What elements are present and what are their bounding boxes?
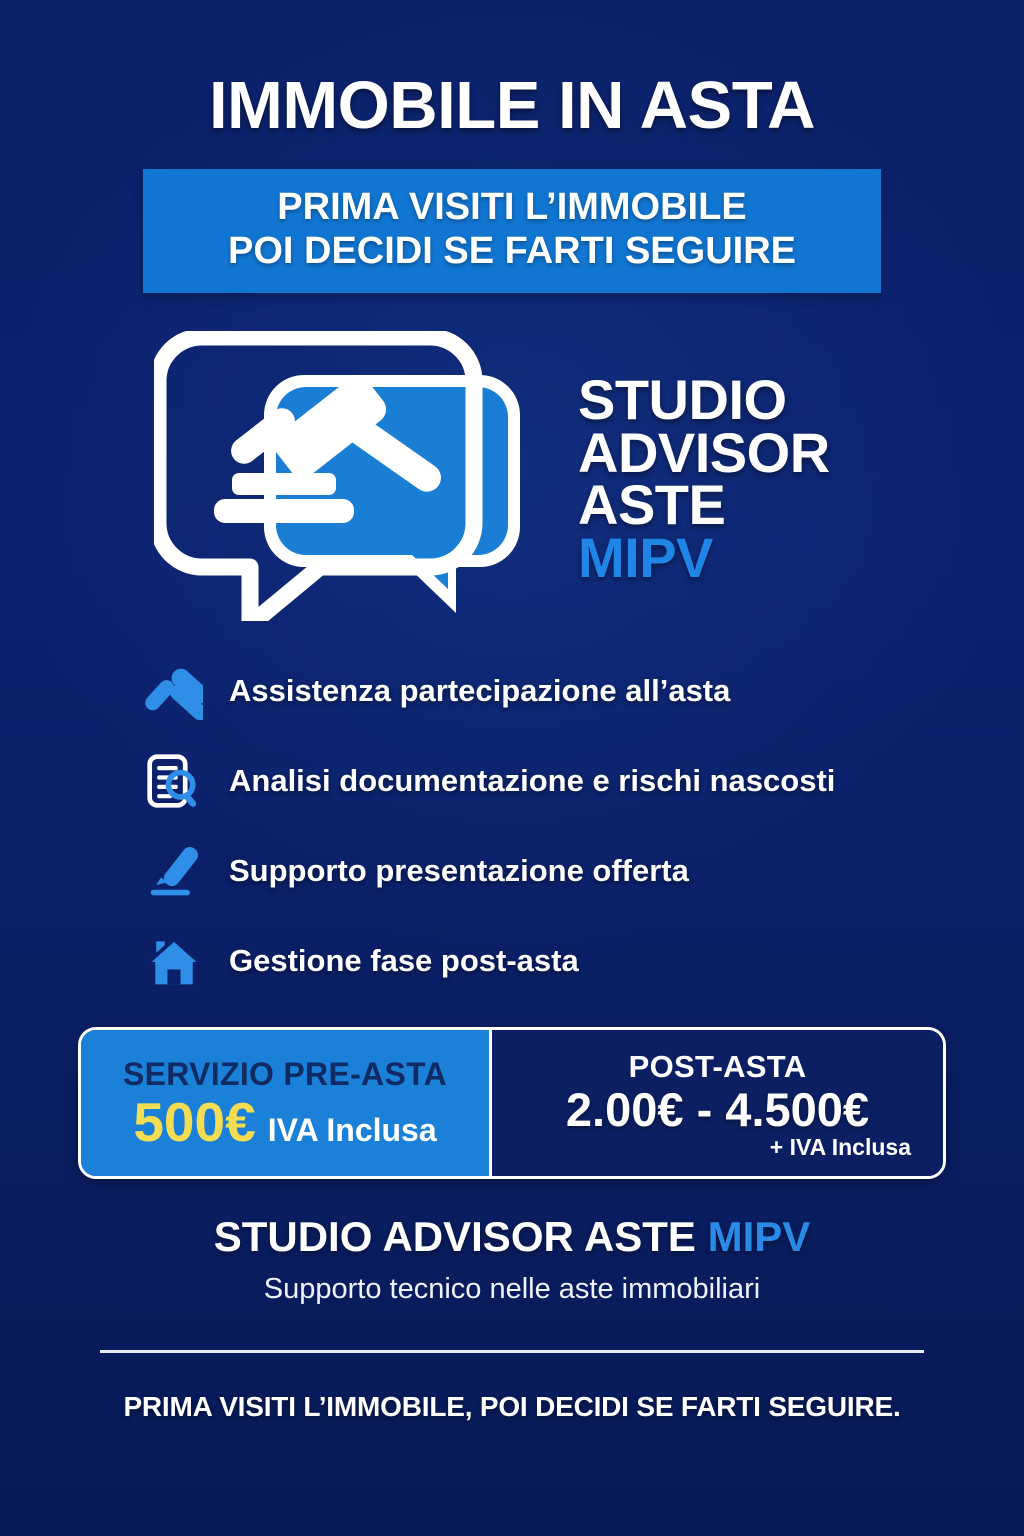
feature-list: Assistenza partecipazione all’asta Anali… (117, 655, 907, 997)
footer-tagline: PRIMA VISITI L’IMMOBILE, POI DECIDI SE F… (123, 1391, 900, 1423)
feature-label: Analisi documentazione e rischi nascosti (229, 763, 835, 799)
pricing-pre-asta-amount: 500€ (133, 1095, 255, 1150)
banner-line-2: POI DECIDI SE FARTI SEGUIRE (153, 229, 871, 273)
footer-brand-main: STUDIO ADVISOR ASTE (214, 1213, 708, 1260)
brand-line-advisor: ADVISOR (578, 427, 830, 480)
pricing-post-asta-vat: + IVA Inclusa (770, 1134, 943, 1161)
speech-bubbles-gavel-logo (154, 331, 546, 621)
banner-line-1: PRIMA VISITI L’IMMOBILE (153, 185, 871, 229)
pricing-pre-asta-title: SERVIZIO PRE-ASTA (123, 1056, 447, 1093)
footer-subtitle: Supporto tecnico nelle aste immobiliari (264, 1273, 760, 1306)
brand-wordmark: STUDIO ADVISOR ASTE MIPV (578, 368, 830, 585)
brand-line-aste: ASTE (578, 479, 830, 532)
pricing-panel-post-asta: POST-ASTA 2.00€ - 4.500€ + IVA Inclusa (492, 1030, 943, 1176)
pricing-pre-asta-vat: IVA Inclusa (268, 1112, 437, 1149)
pen-signature-icon (143, 840, 205, 902)
footer-brand: STUDIO ADVISOR ASTE MIPV (214, 1213, 811, 1261)
feature-item: Gestione fase post-asta (143, 925, 907, 997)
feature-item: Supporto presentazione offerta (143, 835, 907, 907)
headline-banner: PRIMA VISITI L’IMMOBILE POI DECIDI SE FA… (143, 169, 881, 293)
pricing-pre-asta-amount-row: 500€ IVA Inclusa (133, 1095, 436, 1150)
feature-label: Assistenza partecipazione all’asta (229, 673, 730, 709)
feature-label: Supporto presentazione offerta (229, 853, 689, 889)
footer-divider (100, 1350, 924, 1353)
gavel-icon (143, 660, 205, 722)
feature-label: Gestione fase post-asta (229, 943, 579, 979)
feature-item: Analisi documentazione e rischi nascosti (143, 745, 907, 817)
feature-item: Assistenza partecipazione all’asta (143, 655, 907, 727)
pricing-panel-pre-asta: SERVIZIO PRE-ASTA 500€ IVA Inclusa (81, 1030, 492, 1176)
pricing-post-asta-amount: 2.00€ - 4.500€ (566, 1085, 869, 1136)
house-icon (143, 930, 205, 992)
footer-brand-accent: MIPV (708, 1213, 811, 1260)
brand-line-studio: STUDIO (578, 374, 830, 427)
brand-line-mipv: MIPV (578, 532, 830, 585)
poster-root: IMMOBILE IN ASTA PRIMA VISITI L’IMMOBILE… (0, 0, 1024, 1536)
document-search-icon (143, 750, 205, 812)
logo-block: STUDIO ADVISOR ASTE MIPV (132, 331, 892, 621)
pricing-box: SERVIZIO PRE-ASTA 500€ IVA Inclusa POST-… (78, 1027, 946, 1179)
page-title: IMMOBILE IN ASTA (209, 72, 815, 139)
pricing-post-asta-title: POST-ASTA (629, 1049, 807, 1085)
